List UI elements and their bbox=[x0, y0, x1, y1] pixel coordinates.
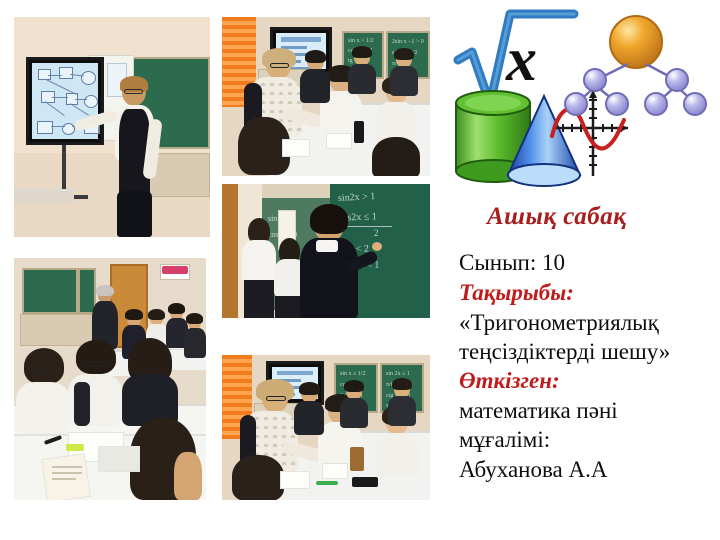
photo-teacher-helping-students-top: sin x > 1/2 cos 2x ≤ 1 tg x < √3 x ∈ (0;… bbox=[222, 17, 430, 176]
text-line-role: мұғалімі: bbox=[459, 428, 550, 452]
node-tree bbox=[565, 64, 706, 115]
text-line-presenter-label: Өткізген: bbox=[459, 369, 560, 393]
slide-title: Ашық сабақ bbox=[487, 203, 626, 231]
student-figure bbox=[300, 53, 330, 101]
photo-students-group-work bbox=[14, 258, 206, 500]
student-figure-foreground bbox=[370, 137, 422, 176]
photo-teacher-helping-students-bottom: sin x ≥ 1/2 cos x < 0 2 tg x > 1 x ∈ R s… bbox=[222, 355, 430, 500]
orange-sphere bbox=[610, 16, 662, 68]
text-line-class: Сынып: 10 bbox=[459, 251, 565, 275]
student-figure bbox=[388, 381, 416, 425]
chalkboard bbox=[22, 268, 78, 314]
text-line-topic-label: Тақырыбы: bbox=[459, 281, 574, 305]
text-line-topic-1: «Тригонометриялық bbox=[459, 311, 659, 335]
student-figure-foreground bbox=[68, 342, 122, 426]
presentation-slide: sin x > 1/2 cos 2x ≤ 1 tg x < √3 x ∈ (0;… bbox=[0, 0, 720, 540]
student-figure-foreground bbox=[16, 350, 70, 434]
student-figure-writing bbox=[300, 206, 364, 318]
student-figure bbox=[348, 49, 376, 93]
student-figure bbox=[184, 316, 206, 358]
text-line-subject: математика пәні bbox=[459, 399, 618, 423]
photo-teacher-at-interactive-whiteboard bbox=[14, 17, 210, 237]
mathematics-clipart: x bbox=[448, 8, 710, 190]
letter-x-variable: x bbox=[505, 26, 537, 94]
text-line-topic-2: теңсіздіктерді шешу» bbox=[459, 340, 670, 364]
interactive-whiteboard-screen bbox=[26, 57, 104, 145]
student-figure bbox=[390, 51, 418, 95]
teacher-figure bbox=[102, 79, 162, 237]
student-figure-foreground bbox=[122, 340, 178, 426]
student-figure-foreground bbox=[230, 455, 286, 500]
student-figure bbox=[294, 385, 324, 433]
svg-text:x: x bbox=[505, 26, 537, 94]
student-figure bbox=[340, 383, 368, 427]
text-line-teacher-name: Абуханова А.А bbox=[459, 458, 607, 482]
photo-students-writing-on-chalkboard: sin2x > 1 cos2x ≤ 1 2 tg x < 2 ctg x < 1… bbox=[222, 184, 430, 318]
